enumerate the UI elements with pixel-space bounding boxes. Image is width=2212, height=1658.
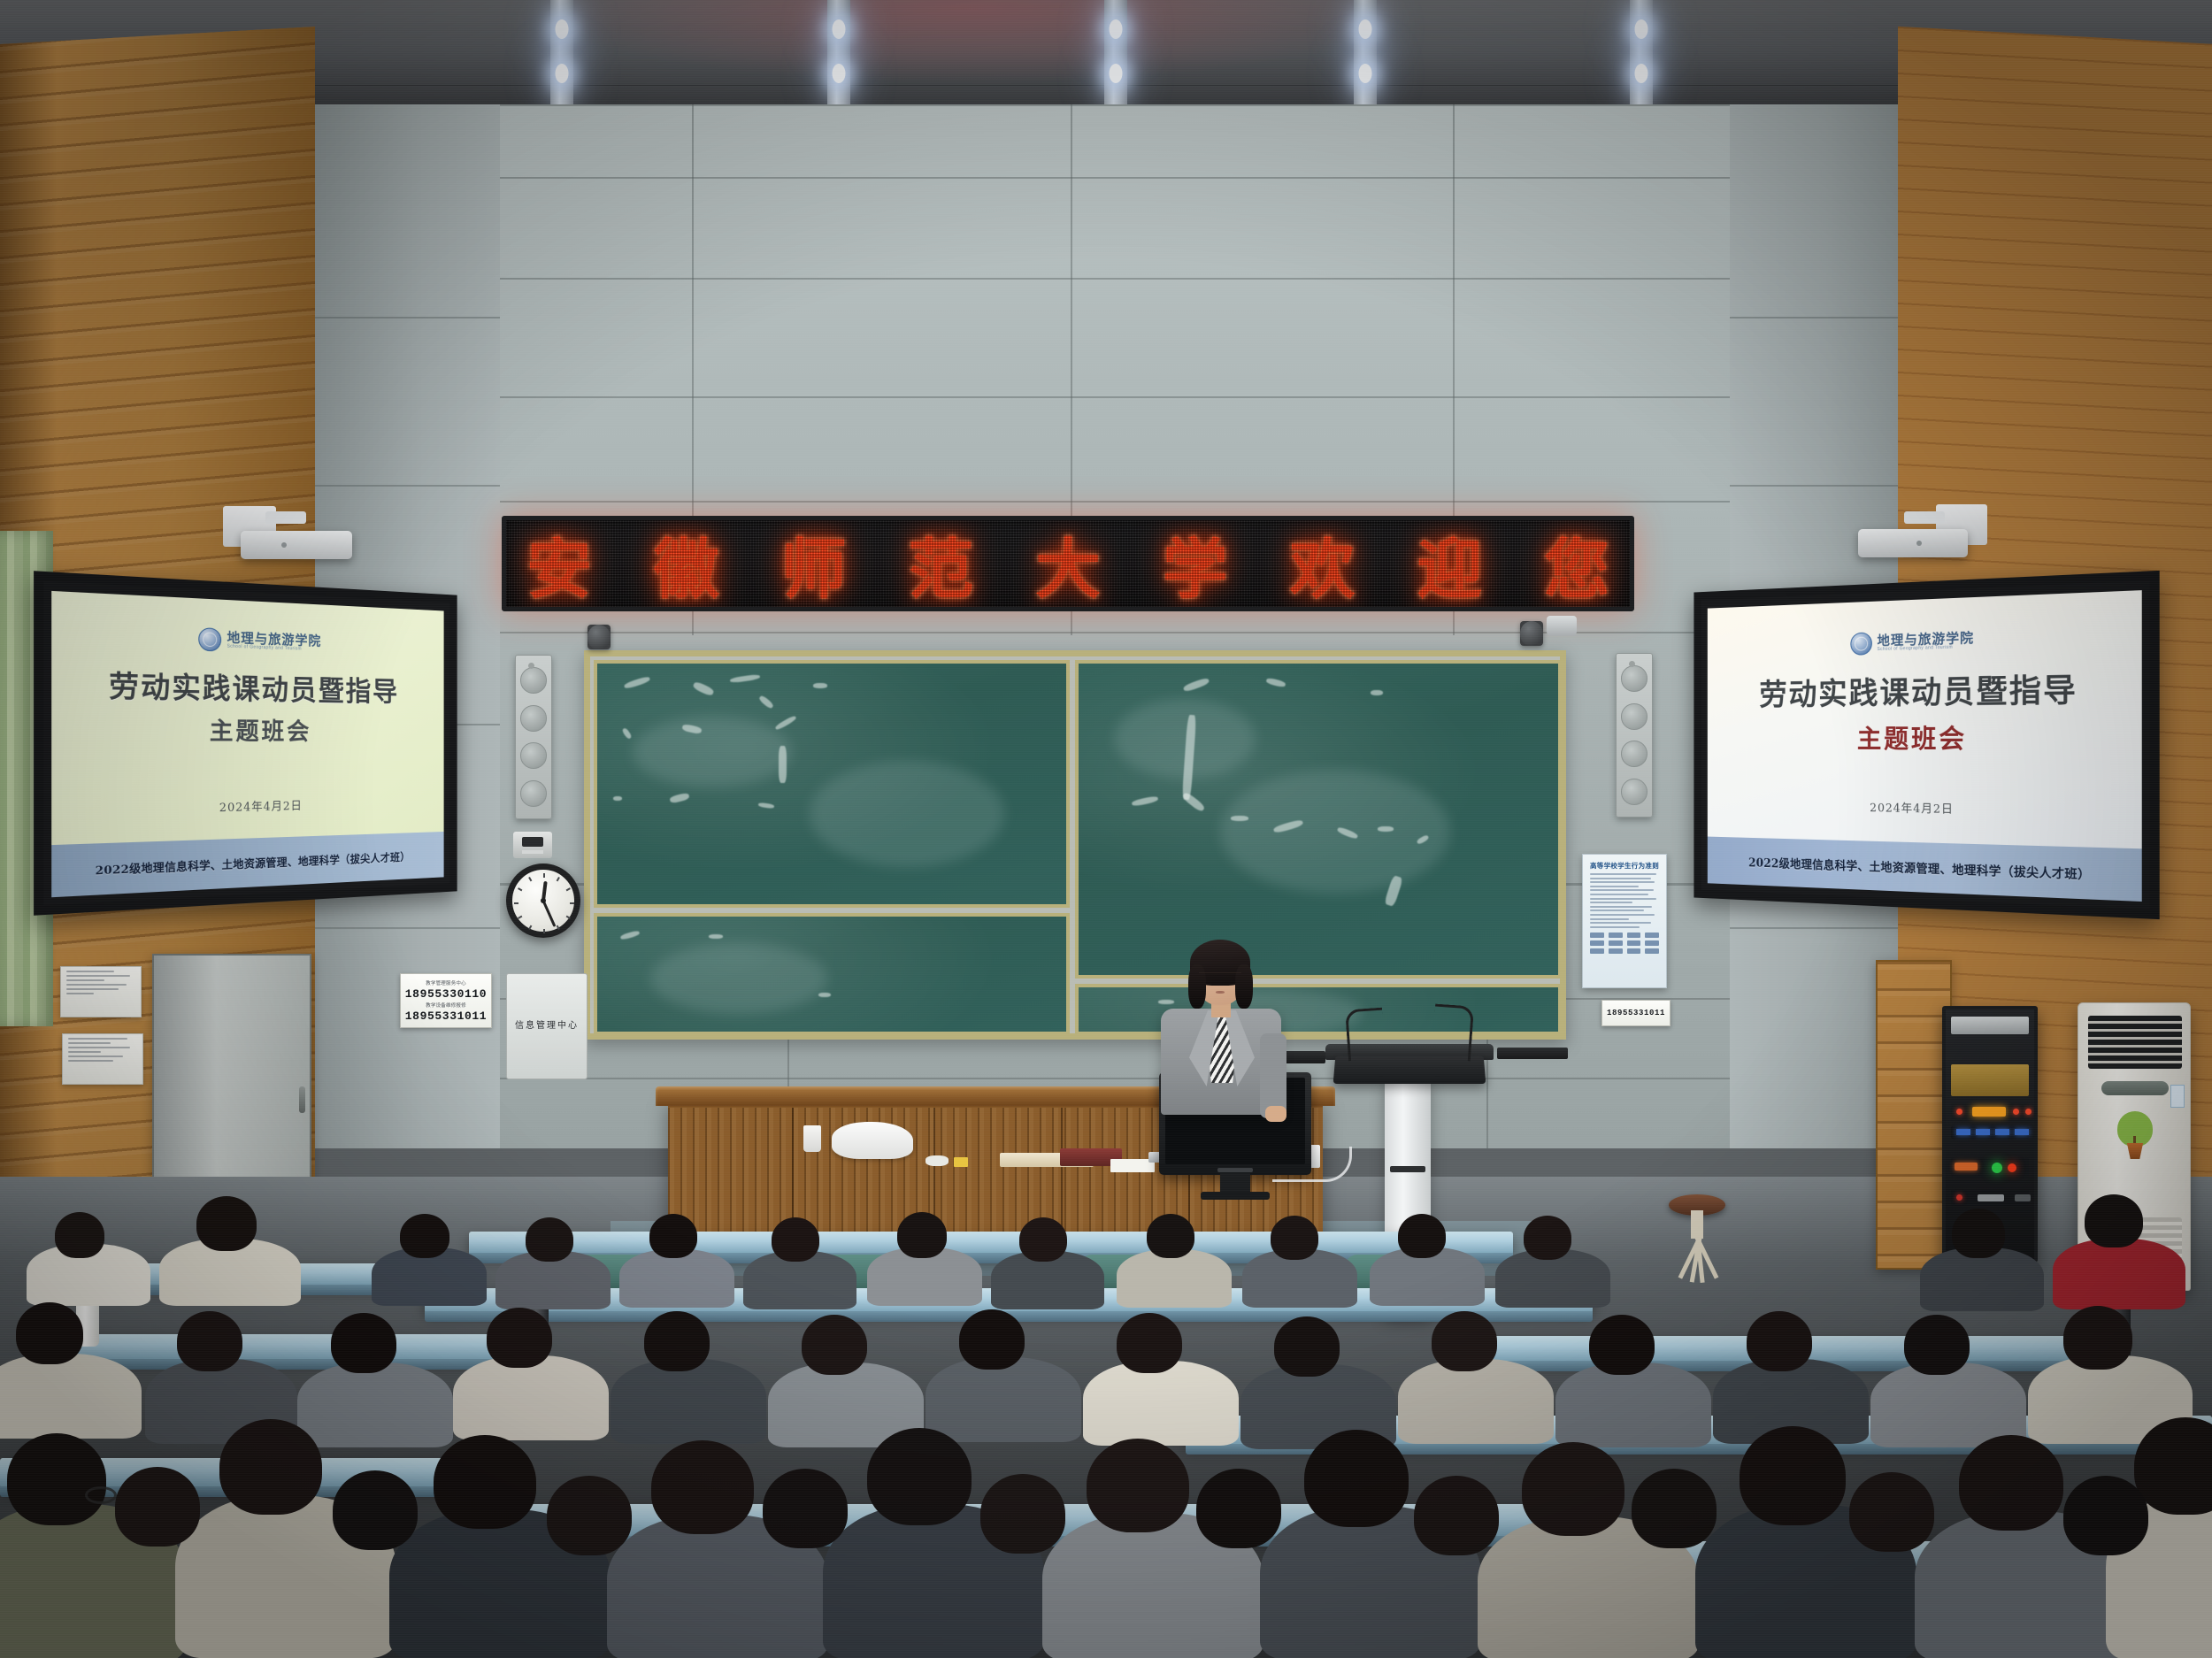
student-head xyxy=(1952,1209,2005,1258)
slide-date: 2024年4月2日 xyxy=(1870,798,1954,817)
student-shoulders xyxy=(297,1362,453,1447)
student-head xyxy=(1522,1442,1624,1536)
school-emblem-icon xyxy=(199,627,222,651)
wall-notice-paper xyxy=(62,1033,143,1085)
ceiling-light-strip xyxy=(1354,0,1377,108)
phone-sign-caption: 教学设备维修报修 xyxy=(426,1002,466,1009)
school-logo: 地理与旅游学院 School of Geography and Tourism xyxy=(199,627,322,655)
student-head xyxy=(1747,1311,1812,1371)
student-head xyxy=(867,1428,972,1525)
student-head xyxy=(1271,1216,1318,1260)
dome-camera-icon xyxy=(1520,621,1543,646)
student-head xyxy=(2063,1306,2132,1370)
eyeglasses-icon xyxy=(85,1486,117,1504)
presenter-hair xyxy=(1188,964,1206,1009)
projector-icon xyxy=(1858,529,1968,557)
monitor-cable xyxy=(1272,1147,1352,1182)
phone-sign-number: 18955331011 xyxy=(1607,1009,1665,1017)
presenter-hand xyxy=(1265,1106,1286,1122)
column-speaker xyxy=(515,655,552,819)
projector-arm xyxy=(265,511,306,524)
blackboard-panel xyxy=(594,913,1070,1035)
ceiling-light-strip xyxy=(1630,0,1653,108)
projector-arm xyxy=(1904,511,1945,524)
student-shoulders xyxy=(1555,1362,1711,1447)
student-head xyxy=(1849,1472,1934,1552)
slide-date: 2024年4月2日 xyxy=(219,796,303,815)
microphone-icon xyxy=(1432,1004,1474,1062)
projector-icon xyxy=(241,531,352,559)
student-head xyxy=(196,1196,257,1251)
student-head xyxy=(897,1212,947,1258)
ceiling-light-strip xyxy=(827,0,850,108)
student-head xyxy=(1117,1313,1182,1373)
student-head xyxy=(651,1440,754,1534)
led-banner-text: 安 徽 师 范 大 学 欢 迎 您 xyxy=(507,517,1629,611)
student-head xyxy=(1398,1214,1446,1258)
ptz-camera-icon xyxy=(1547,616,1577,635)
student-desk-row xyxy=(469,1232,1513,1255)
student-shoulders xyxy=(453,1355,609,1440)
slide-title: 劳动实践课动员暨指导 xyxy=(109,670,399,709)
student-head xyxy=(1147,1214,1194,1258)
ceiling xyxy=(0,0,2212,117)
ceiling-light-strip xyxy=(550,0,573,108)
dome-camera-icon xyxy=(588,625,611,649)
student-shoulders xyxy=(1083,1361,1239,1446)
clock-minute-hand xyxy=(542,900,557,926)
presenter-hair xyxy=(1235,964,1253,1009)
student-head xyxy=(434,1435,536,1529)
poster-heading: 高等学校学生行为准则 xyxy=(1590,861,1659,871)
slide-footnote: 2022级地理信息科学、土地资源管理、地理科学（拔尖人才班） xyxy=(1748,853,2091,883)
student-shoulders xyxy=(1398,1359,1554,1444)
student-head xyxy=(1274,1316,1340,1377)
wall-box xyxy=(513,832,552,858)
student-head xyxy=(1432,1311,1497,1371)
student-head xyxy=(959,1309,1025,1370)
blackboard-panel xyxy=(1075,660,1562,979)
student-head xyxy=(1740,1426,1846,1525)
student-head xyxy=(772,1217,819,1262)
projection-screen-left: 地理与旅游学院 School of Geography and Tourism … xyxy=(34,571,457,916)
paper-cup xyxy=(803,1125,821,1152)
student-shoulders xyxy=(611,1359,766,1444)
student-head xyxy=(1087,1439,1189,1532)
door-label-text: 信息管理中心 xyxy=(515,1020,579,1032)
student-shoulders xyxy=(926,1357,1081,1442)
microphone-icon xyxy=(1345,1008,1386,1062)
student-head xyxy=(1524,1216,1571,1260)
student-head xyxy=(644,1311,710,1371)
chalk-tray xyxy=(1497,1048,1568,1059)
presenter-glasses xyxy=(1199,972,1241,981)
school-logo: 地理与旅游学院 School of Geography and Tourism xyxy=(1850,629,1974,656)
led-banner: 安 徽 师 范 大 学 欢 迎 您 xyxy=(502,516,1634,611)
student-head xyxy=(1414,1476,1499,1555)
student-head xyxy=(400,1214,449,1258)
column-speaker xyxy=(1616,653,1653,817)
student-head xyxy=(980,1474,1065,1554)
slide-footnote: 2022级地理信息科学、土地资源管理、地理科学（拔尖人才班） xyxy=(96,848,411,878)
logo-english-name: School of Geography and Tourism xyxy=(1878,645,1975,652)
lecture-hall-photo: 安 徽 师 范 大 学 欢 迎 您 xyxy=(0,0,2212,1658)
wall-notice-paper xyxy=(60,966,142,1017)
student-desk-row xyxy=(62,1334,504,1361)
student-head xyxy=(802,1315,867,1375)
student-head xyxy=(219,1419,322,1515)
student-head xyxy=(1632,1469,1717,1548)
slide-subtitle: 主题班会 xyxy=(1857,718,1967,756)
student-head xyxy=(1196,1469,1281,1548)
blackboard-panel xyxy=(1075,984,1562,1035)
student-head xyxy=(547,1476,632,1555)
info-center-door-plate: 信息管理中心 xyxy=(506,973,588,1079)
student-code-poster: 高等学校学生行为准则 xyxy=(1582,854,1667,988)
student-head xyxy=(1589,1315,1655,1375)
slide-subtitle: 主题班会 xyxy=(210,711,311,747)
slide-right: 地理与旅游学院 School of Geography and Tourism … xyxy=(1708,590,2142,902)
student-head xyxy=(16,1302,83,1364)
student-head xyxy=(55,1212,104,1258)
student-head xyxy=(115,1467,200,1547)
student-head xyxy=(1019,1217,1067,1262)
student-head xyxy=(526,1217,573,1262)
phone-sign-caption: 教学管理服务中心 xyxy=(426,979,466,986)
eraser xyxy=(926,1155,949,1166)
projection-screen-right: 地理与旅游学院 School of Geography and Tourism … xyxy=(1694,571,2159,919)
service-phone-sign-right: 18955331011 xyxy=(1601,1000,1671,1026)
student-head xyxy=(1904,1315,1970,1375)
service-phone-sign: 教学管理服务中心 18955330110 教学设备维修报修 1895533101… xyxy=(400,973,492,1028)
blackboard xyxy=(584,650,1566,1040)
white-plastic-bag xyxy=(832,1122,913,1159)
phone-sign-number: 18955331011 xyxy=(405,1009,487,1023)
slide-title: 劳动实践课动员暨指导 xyxy=(1759,673,2078,715)
slide-left: 地理与旅游学院 School of Geography and Tourism … xyxy=(51,591,443,897)
phone-sign-number: 18955330110 xyxy=(405,987,487,1001)
student-head xyxy=(649,1214,697,1258)
student-shoulders xyxy=(0,1354,142,1439)
student-head xyxy=(1959,1435,2063,1531)
school-emblem-icon xyxy=(1850,633,1872,656)
student-head xyxy=(2063,1476,2148,1555)
chalk-box xyxy=(954,1157,968,1167)
ceiling-light-strip xyxy=(1104,0,1127,108)
blackboard-panel xyxy=(594,660,1070,908)
student-head xyxy=(177,1311,242,1371)
student-shoulders xyxy=(2053,1239,2185,1309)
student-head xyxy=(1304,1430,1409,1527)
student-head xyxy=(763,1469,848,1548)
student-head xyxy=(487,1308,552,1368)
wood-door-right[interactable] xyxy=(1876,960,1952,1270)
student-head xyxy=(7,1433,106,1525)
student-head xyxy=(331,1313,396,1373)
student-head xyxy=(333,1470,418,1550)
student-head xyxy=(2085,1194,2143,1247)
round-stool[interactable] xyxy=(1663,1189,1734,1295)
wall-clock xyxy=(506,864,580,938)
